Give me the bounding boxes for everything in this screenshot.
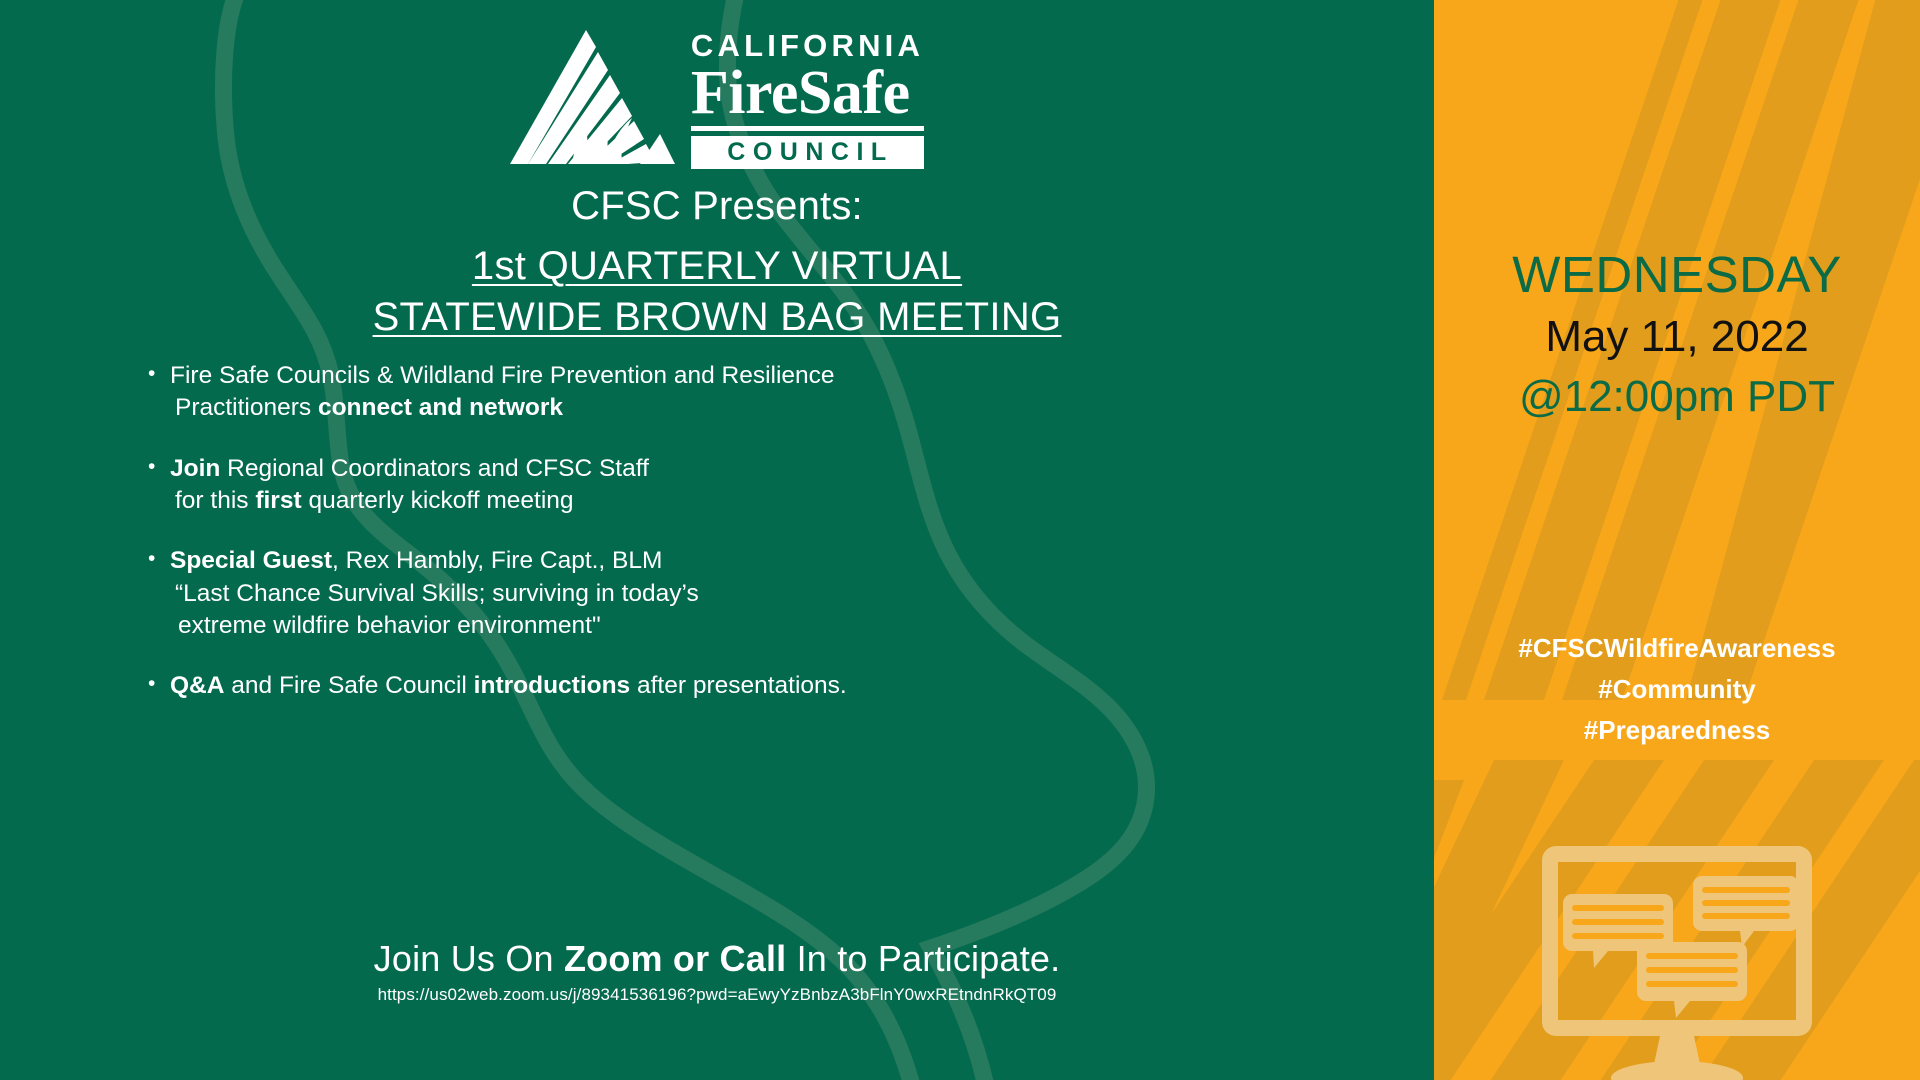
bullet-networking: • Fire Safe Councils & Wildland Fire Pre… <box>148 360 1298 425</box>
hashtag-block: #CFSCWildfireAwareness #Community #Prepa… <box>1434 628 1920 751</box>
cfsc-logo: CALIFORNIA FireSafe COUNCIL <box>0 22 1434 169</box>
bullet-join-coordinators: • Join Regional Coordinators and CFSC St… <box>148 453 1298 518</box>
hashtag-community: #Community <box>1434 669 1920 710</box>
zoom-meeting-link[interactable]: https://us02web.zoom.us/j/89341536196?pw… <box>0 985 1434 1005</box>
hashtag-wildfire-awareness: #CFSCWildfireAwareness <box>1434 628 1920 669</box>
bullet-qa: • Q&A and Fire Safe Council introduction… <box>148 670 1298 702</box>
bullet-qa-post: after presentations. <box>630 672 847 699</box>
presents-title: CFSC Presents: <box>0 182 1434 231</box>
bullet-networking-line2-bold: connect and network <box>318 394 563 421</box>
cta-pre: Join Us On <box>374 938 564 979</box>
left-green-panel: CALIFORNIA FireSafe COUNCIL CFSC Present… <box>0 0 1434 1080</box>
logo-line-council: COUNCIL <box>691 136 924 169</box>
bullet-guest-line1-post: , Rex Hambly, Fire Capt., BLM <box>332 547 662 574</box>
join-us-cta: Join Us On Zoom or Call In to Participat… <box>0 938 1434 980</box>
day-of-week: WEDNESDAY <box>1434 247 1920 302</box>
bullet-networking-line2-pre: Practitioners <box>175 394 318 421</box>
bullet-join-bold: Join <box>170 455 220 482</box>
cta-post: In to Participate. <box>786 938 1060 979</box>
event-date-block: WEDNESDAY May 11, 2022 @12:00pm PDT <box>1434 247 1920 425</box>
logo-line-california: CALIFORNIA <box>691 30 924 61</box>
bullet-join-line1-post: Regional Coordinators and CFSC Staff <box>220 455 649 482</box>
event-title-line2: STATEWIDE BROWN BAG MEETING <box>0 292 1434 343</box>
hashtag-preparedness: #Preparedness <box>1434 710 1920 751</box>
cta-bold: Zoom or Call <box>564 938 786 979</box>
bullet-join-line2-post: quarterly kickoff meeting <box>302 487 574 514</box>
monitor-chat-bubbles-icon <box>1542 846 1812 1080</box>
bullet-marker: • <box>148 670 170 699</box>
bullet-marker: • <box>148 453 170 482</box>
bullet-list: • Fire Safe Councils & Wildland Fire Pre… <box>148 360 1298 703</box>
bullet-qa-bold: Q&A <box>170 672 224 699</box>
right-orange-panel: WEDNESDAY May 11, 2022 @12:00pm PDT #CFS… <box>1434 0 1920 1080</box>
bullet-marker: • <box>148 545 170 574</box>
bullet-guest-quote-line1: “Last Chance Survival Skills; surviving … <box>170 578 1298 610</box>
bullet-guest-quote-line2: extreme wildfire behavior environment" <box>170 610 1298 642</box>
bullet-networking-line1: Fire Safe Councils & Wildland Fire Preve… <box>170 362 835 389</box>
title-block: CFSC Presents: 1st QUARTERLY VIRTUAL STA… <box>0 182 1434 343</box>
event-title-line1: 1st QUARTERLY VIRTUAL <box>0 241 1434 292</box>
bullet-special-guest: • Special Guest, Rex Hambly, Fire Capt.,… <box>148 545 1298 642</box>
bullet-guest-bold: Special Guest <box>170 547 332 574</box>
logo-line-firesafe: FireSafe <box>691 64 924 131</box>
bullet-join-line2-pre: for this <box>175 487 255 514</box>
bullet-qa-mid: and Fire Safe Council <box>224 672 473 699</box>
event-flyer: CALIFORNIA FireSafe COUNCIL CFSC Present… <box>0 0 1920 1080</box>
bullet-marker: • <box>148 360 170 389</box>
event-date: May 11, 2022 <box>1434 308 1920 365</box>
mountain-flame-logo-icon <box>510 22 675 164</box>
event-time: @12:00pm PDT <box>1434 368 1920 425</box>
bullet-qa-bold2: introductions <box>474 672 631 699</box>
bullet-join-line2-bold: first <box>255 487 301 514</box>
